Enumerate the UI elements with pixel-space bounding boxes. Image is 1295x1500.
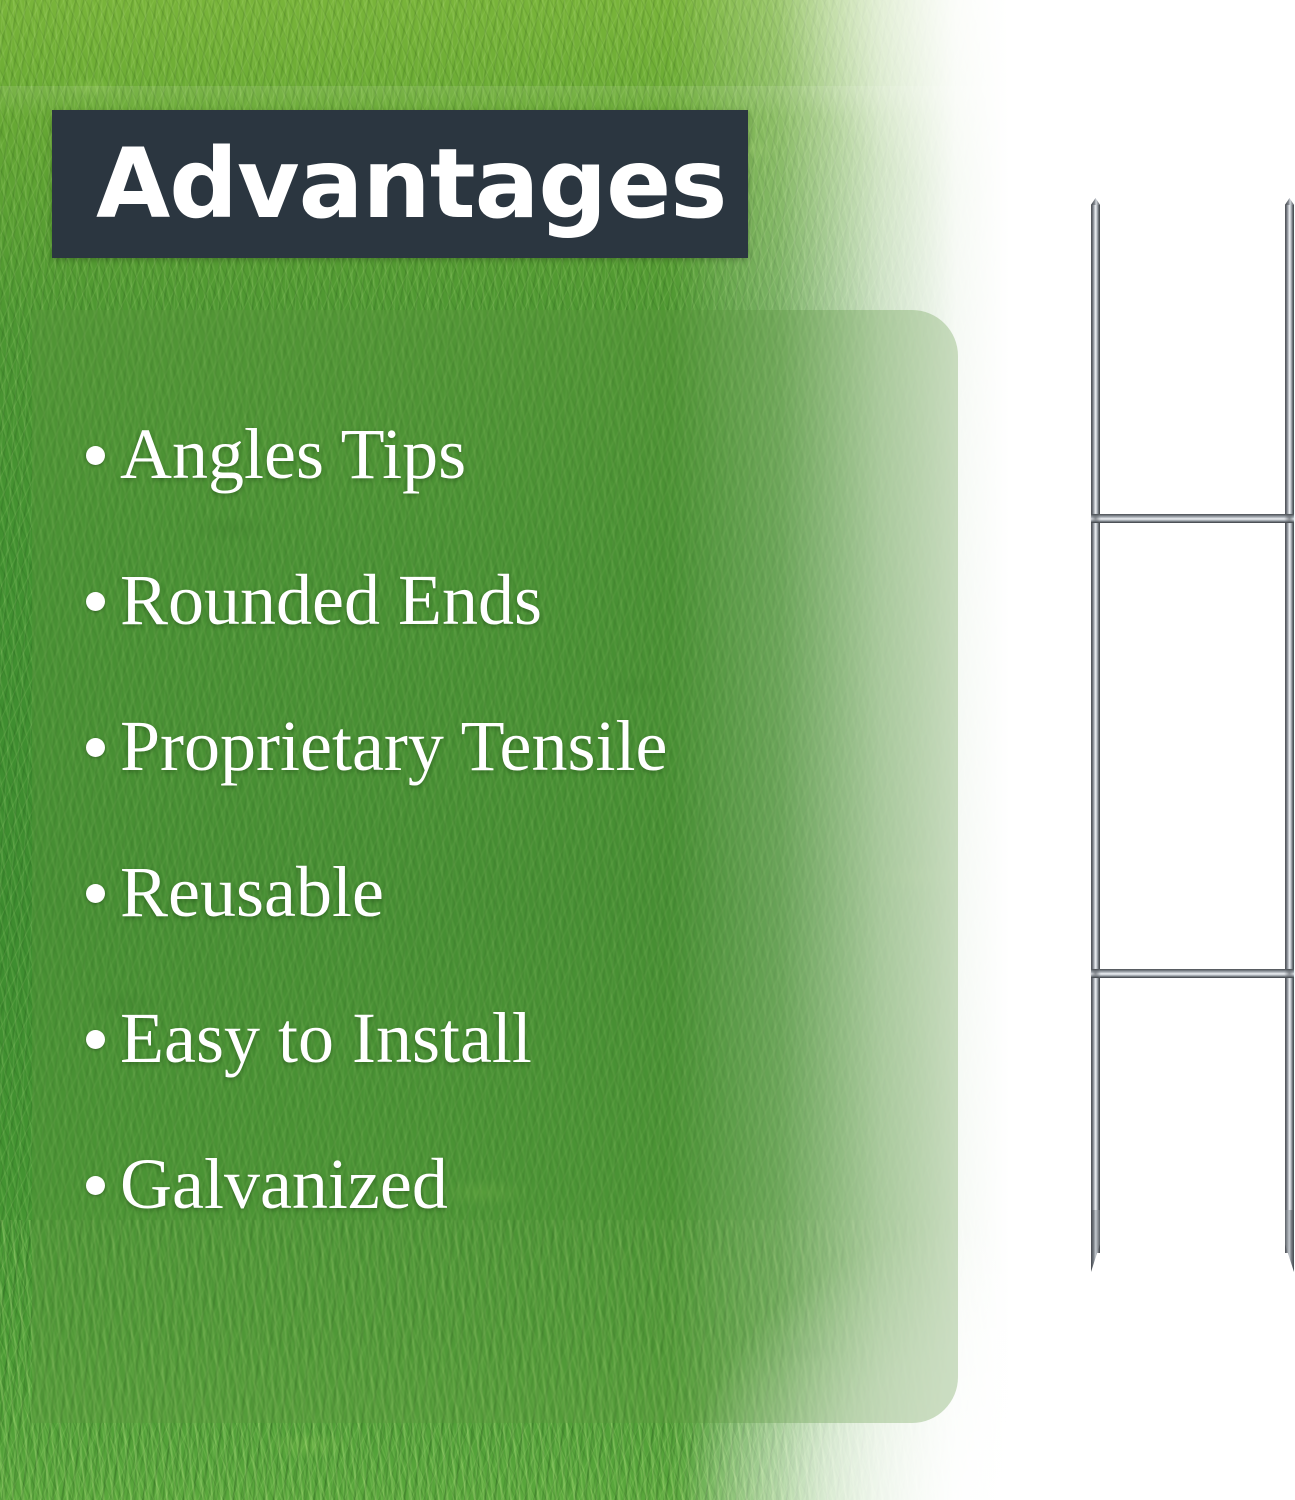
stake-joint-upper-right (1284, 513, 1295, 524)
feature-label: Angles Tips (120, 418, 466, 490)
stake-angled-tip-right-icon (1285, 1210, 1294, 1272)
stake-leg-left (1091, 205, 1100, 1253)
h-stake-product-image (1010, 0, 1295, 1500)
stake-joint-lower-right (1284, 968, 1295, 979)
bullet-dot-icon (86, 738, 105, 757)
bullet-dot-icon (86, 1176, 105, 1195)
stake-joint-lower-left (1090, 968, 1101, 979)
bullet-dot-icon (86, 1030, 105, 1049)
product-image-area (1010, 0, 1295, 1500)
bullet-dot-icon (86, 446, 105, 465)
stake-crossbar-upper (1091, 514, 1294, 523)
stake-angled-tip-left-icon (1091, 1210, 1100, 1272)
list-item: Angles Tips (86, 418, 946, 564)
stake-joint-upper-left (1090, 513, 1101, 524)
feature-list: Angles Tips Rounded Ends Proprietary Ten… (86, 418, 946, 1294)
page-title: Advantages (52, 136, 726, 232)
feature-label: Galvanized (120, 1148, 448, 1220)
bullet-dot-icon (86, 884, 105, 903)
list-item: Easy to Install (86, 1002, 946, 1148)
title-banner: Advantages (52, 110, 748, 258)
list-item: Proprietary Tensile (86, 710, 946, 856)
list-item: Reusable (86, 856, 946, 1002)
stake-crossbar-lower (1091, 969, 1294, 978)
feature-label: Easy to Install (120, 1002, 532, 1074)
infographic-canvas: Advantages Angles Tips Rounded Ends Prop… (0, 0, 1295, 1500)
feature-label: Rounded Ends (120, 564, 542, 636)
feature-label: Proprietary Tensile (120, 710, 668, 782)
bullet-dot-icon (86, 592, 105, 611)
stake-leg-right (1285, 205, 1294, 1253)
feature-label: Reusable (120, 856, 384, 928)
list-item: Galvanized (86, 1148, 946, 1294)
list-item: Rounded Ends (86, 564, 946, 710)
